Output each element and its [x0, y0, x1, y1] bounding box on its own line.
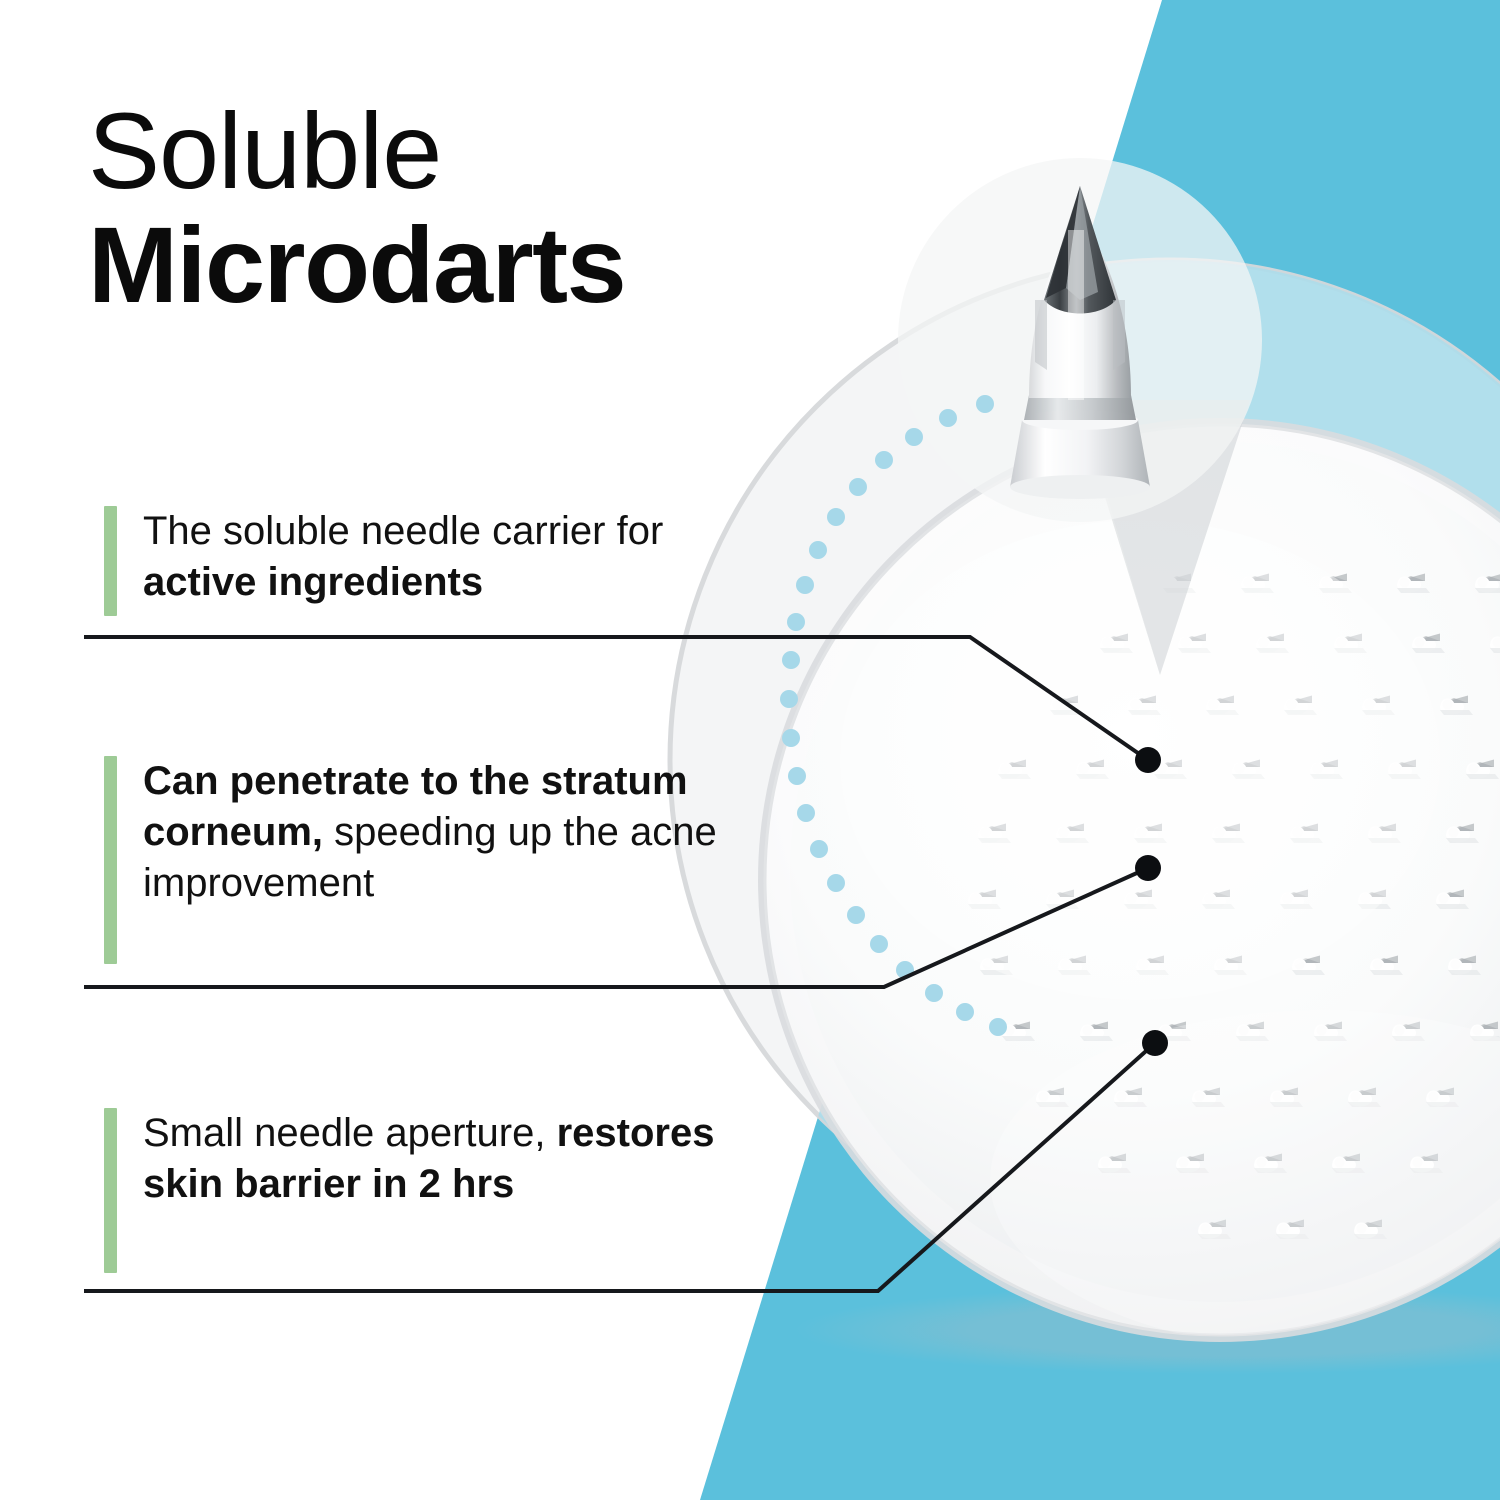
callout-dots: [1135, 747, 1168, 1056]
feature-text-3: Small needle aperture, restores skin bar…: [143, 1108, 783, 1210]
microdart-array: [840, 520, 1500, 1350]
infographic-canvas: Soluble Microdarts The soluble needle ca…: [0, 0, 1500, 1500]
feature-1-plain-before: The soluble needle carrier for: [143, 509, 663, 553]
feature-bullet-1: The soluble needle carrier for active in…: [104, 506, 783, 616]
accent-bar-3: [104, 1108, 117, 1273]
accent-bar-2: [104, 756, 117, 964]
magnification-cone: [1075, 400, 1250, 675]
callout-dot-3: [1142, 1030, 1168, 1056]
title-line-1: Soluble: [88, 96, 908, 206]
title-line-2: Microdarts: [88, 210, 908, 320]
feature-bullet-2: Can penetrate to the stratum corneum, sp…: [104, 756, 783, 964]
callout-dot-1: [1135, 747, 1161, 773]
magnified-microdart-needle: [898, 158, 1262, 522]
feature-3-plain-before: Small needle aperture,: [143, 1111, 557, 1155]
page-title: Soluble Microdarts: [88, 96, 908, 320]
feature-text-1: The soluble needle carrier for active in…: [143, 506, 783, 608]
dotted-arc: [780, 395, 1007, 1036]
feature-bullet-3: Small needle aperture, restores skin bar…: [104, 1108, 783, 1273]
feature-1-bold: active ingredients: [143, 560, 483, 604]
microdart-patch-disc: [758, 418, 1500, 1374]
callout-dot-2: [1135, 855, 1161, 881]
leader-line-1: [84, 637, 1148, 760]
halo-circle: [670, 260, 1500, 1260]
feature-text-2: Can penetrate to the stratum corneum, sp…: [143, 756, 783, 910]
accent-bar-1: [104, 506, 117, 616]
